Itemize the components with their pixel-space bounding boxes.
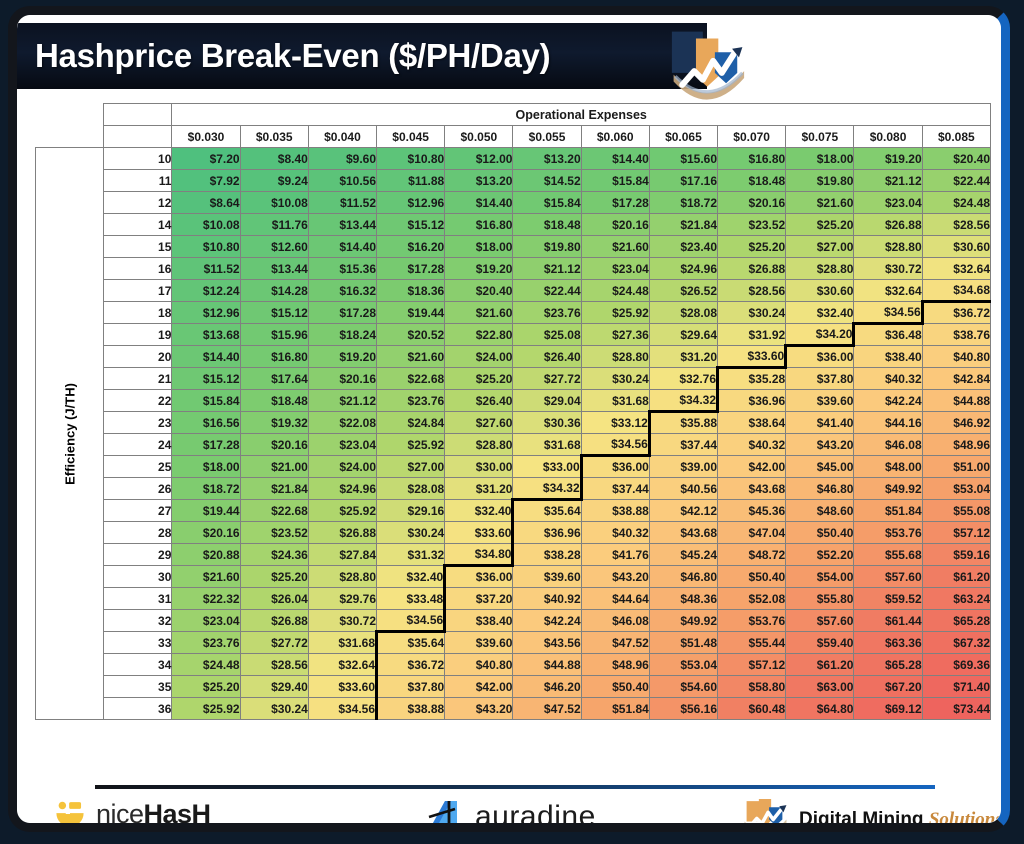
row-header-18: 18 xyxy=(104,302,172,324)
cell-28-1: $23.52 xyxy=(240,522,308,544)
row-header-12: 12 xyxy=(104,192,172,214)
cell-20-4: $24.00 xyxy=(445,346,513,368)
cell-10-11: $20.40 xyxy=(922,148,990,170)
cell-20-3: $21.60 xyxy=(377,346,445,368)
table-row: 24$17.28$20.16$23.04$25.92$28.80$31.68$3… xyxy=(36,434,991,456)
table-row: 14$10.08$11.76$13.44$15.12$16.80$18.48$2… xyxy=(36,214,991,236)
cell-36-11: $73.44 xyxy=(922,698,990,720)
cell-14-1: $11.76 xyxy=(240,214,308,236)
cell-24-10: $46.08 xyxy=(854,434,922,456)
cell-21-10: $40.32 xyxy=(854,368,922,390)
cell-11-5: $14.52 xyxy=(513,170,581,192)
cell-26-8: $43.68 xyxy=(718,478,786,500)
cell-27-1: $22.68 xyxy=(240,500,308,522)
dms-wordmark: Digital Mining Solutions xyxy=(799,809,1001,823)
cell-10-8: $16.80 xyxy=(718,148,786,170)
cell-20-0: $14.40 xyxy=(172,346,240,368)
cell-23-9: $41.40 xyxy=(786,412,854,434)
cell-33-7: $51.48 xyxy=(649,632,717,654)
cell-29-6: $41.76 xyxy=(581,544,649,566)
nicehash-pre: nice xyxy=(96,799,144,824)
cell-23-4: $27.60 xyxy=(445,412,513,434)
cell-31-8: $52.08 xyxy=(718,588,786,610)
cell-20-7: $31.20 xyxy=(649,346,717,368)
cell-33-3: $35.64 xyxy=(377,632,445,654)
cell-12-1: $10.08 xyxy=(240,192,308,214)
cell-28-6: $40.32 xyxy=(581,522,649,544)
cell-32-11: $65.28 xyxy=(922,610,990,632)
nicehash-wordmark: niceHasH xyxy=(96,799,211,824)
table-row: 29$20.88$24.36$27.84$31.32$34.80$38.28$4… xyxy=(36,544,991,566)
cell-26-2: $24.96 xyxy=(308,478,376,500)
cell-24-5: $31.68 xyxy=(513,434,581,456)
cell-23-5: $30.36 xyxy=(513,412,581,434)
cell-25-0: $18.00 xyxy=(172,456,240,478)
cell-31-1: $26.04 xyxy=(240,588,308,610)
cell-10-4: $12.00 xyxy=(445,148,513,170)
cell-12-2: $11.52 xyxy=(308,192,376,214)
cell-27-4: $32.40 xyxy=(445,500,513,522)
cell-19-6: $27.36 xyxy=(581,324,649,346)
cell-26-5: $34.32 xyxy=(513,478,581,500)
cell-26-3: $28.08 xyxy=(377,478,445,500)
cell-28-10: $53.76 xyxy=(854,522,922,544)
cell-29-10: $55.68 xyxy=(854,544,922,566)
cell-10-7: $15.60 xyxy=(649,148,717,170)
cell-36-1: $30.24 xyxy=(240,698,308,720)
row-header-28: 28 xyxy=(104,522,172,544)
cell-15-1: $12.60 xyxy=(240,236,308,258)
title-bar: Hashprice Break-Even ($/PH/Day) xyxy=(17,23,707,89)
cell-25-7: $39.00 xyxy=(649,456,717,478)
row-header-34: 34 xyxy=(104,654,172,676)
cell-24-0: $17.28 xyxy=(172,434,240,456)
cell-21-3: $22.68 xyxy=(377,368,445,390)
row-header-10: 10 xyxy=(104,148,172,170)
cell-23-0: $16.56 xyxy=(172,412,240,434)
cell-14-5: $18.48 xyxy=(513,214,581,236)
table-row: 16$11.52$13.44$15.36$17.28$19.20$21.12$2… xyxy=(36,258,991,280)
cell-33-2: $31.68 xyxy=(308,632,376,654)
cell-30-6: $43.20 xyxy=(581,566,649,588)
cell-25-4: $30.00 xyxy=(445,456,513,478)
table-row: 32$23.04$26.88$30.72$34.56$38.40$42.24$4… xyxy=(36,610,991,632)
row-header-27: 27 xyxy=(104,500,172,522)
cell-25-3: $27.00 xyxy=(377,456,445,478)
cell-17-11: $34.68 xyxy=(922,280,990,302)
cell-14-10: $26.88 xyxy=(854,214,922,236)
table-row: 25$18.00$21.00$24.00$27.00$30.00$33.00$3… xyxy=(36,456,991,478)
cell-27-8: $45.36 xyxy=(718,500,786,522)
cell-25-10: $48.00 xyxy=(854,456,922,478)
cell-22-11: $44.88 xyxy=(922,390,990,412)
cell-35-8: $58.80 xyxy=(718,676,786,698)
cell-25-1: $21.00 xyxy=(240,456,308,478)
cell-14-2: $13.44 xyxy=(308,214,376,236)
cell-35-0: $25.20 xyxy=(172,676,240,698)
cell-16-10: $30.72 xyxy=(854,258,922,280)
table-row: 31$22.32$26.04$29.76$33.48$37.20$40.92$4… xyxy=(36,588,991,610)
cell-34-3: $36.72 xyxy=(377,654,445,676)
column-header-10: $0.080 xyxy=(854,126,922,148)
row-header-11: 11 xyxy=(104,170,172,192)
cell-31-10: $59.52 xyxy=(854,588,922,610)
table-row: Efficiency (J/TH)10$7.20$8.40$9.60$10.80… xyxy=(36,148,991,170)
cell-32-10: $61.44 xyxy=(854,610,922,632)
cell-25-8: $42.00 xyxy=(718,456,786,478)
cell-20-5: $26.40 xyxy=(513,346,581,368)
cell-35-6: $50.40 xyxy=(581,676,649,698)
cell-10-2: $9.60 xyxy=(308,148,376,170)
cell-21-8: $35.28 xyxy=(718,368,786,390)
cell-34-10: $65.28 xyxy=(854,654,922,676)
cell-14-11: $28.56 xyxy=(922,214,990,236)
cell-12-9: $21.60 xyxy=(786,192,854,214)
dms-bar-chart-logo-icon xyxy=(665,23,751,109)
column-header-8: $0.070 xyxy=(718,126,786,148)
column-header-7: $0.065 xyxy=(649,126,717,148)
cell-16-1: $13.44 xyxy=(240,258,308,280)
cell-30-5: $39.60 xyxy=(513,566,581,588)
cell-21-6: $30.24 xyxy=(581,368,649,390)
cell-31-0: $22.32 xyxy=(172,588,240,610)
cell-16-7: $24.96 xyxy=(649,258,717,280)
cell-18-0: $12.96 xyxy=(172,302,240,324)
logo-nicehash[interactable]: niceHasH xyxy=(53,797,211,823)
cell-34-6: $48.96 xyxy=(581,654,649,676)
cell-24-11: $48.96 xyxy=(922,434,990,456)
row-header-36: 36 xyxy=(104,698,172,720)
logo-digital-mining-solutions[interactable]: Digital Mining Solutions xyxy=(739,797,1001,823)
cell-17-10: $32.64 xyxy=(854,280,922,302)
cell-15-7: $23.40 xyxy=(649,236,717,258)
cell-24-2: $23.04 xyxy=(308,434,376,456)
table-row: 34$24.48$28.56$32.64$36.72$40.80$44.88$4… xyxy=(36,654,991,676)
cell-33-1: $27.72 xyxy=(240,632,308,654)
table-row: 15$10.80$12.60$14.40$16.20$18.00$19.80$2… xyxy=(36,236,991,258)
cell-19-2: $18.24 xyxy=(308,324,376,346)
cell-31-7: $48.36 xyxy=(649,588,717,610)
cell-21-4: $25.20 xyxy=(445,368,513,390)
dms-accent: Solutions xyxy=(929,809,1001,823)
cell-15-9: $27.00 xyxy=(786,236,854,258)
cell-18-5: $23.76 xyxy=(513,302,581,324)
cell-25-9: $45.00 xyxy=(786,456,854,478)
cell-22-10: $42.24 xyxy=(854,390,922,412)
cell-17-6: $24.48 xyxy=(581,280,649,302)
cell-36-7: $56.16 xyxy=(649,698,717,720)
cell-32-3: $34.56 xyxy=(377,610,445,632)
cell-22-7: $34.32 xyxy=(649,390,717,412)
cell-29-4: $34.80 xyxy=(445,544,513,566)
cell-23-1: $19.32 xyxy=(240,412,308,434)
cell-36-10: $69.12 xyxy=(854,698,922,720)
row-header-29: 29 xyxy=(104,544,172,566)
cell-10-5: $13.20 xyxy=(513,148,581,170)
cell-27-10: $51.84 xyxy=(854,500,922,522)
row-header-16: 16 xyxy=(104,258,172,280)
cell-19-3: $20.52 xyxy=(377,324,445,346)
cell-11-3: $11.88 xyxy=(377,170,445,192)
cell-15-4: $18.00 xyxy=(445,236,513,258)
row-header-31: 31 xyxy=(104,588,172,610)
cell-36-4: $43.20 xyxy=(445,698,513,720)
table-row: 30$21.60$25.20$28.80$32.40$36.00$39.60$4… xyxy=(36,566,991,588)
dms-bar-chart-logo-icon-footer xyxy=(739,797,791,823)
cell-29-5: $38.28 xyxy=(513,544,581,566)
cell-34-11: $69.36 xyxy=(922,654,990,676)
cell-15-0: $10.80 xyxy=(172,236,240,258)
cell-31-6: $44.64 xyxy=(581,588,649,610)
cell-30-0: $21.60 xyxy=(172,566,240,588)
cell-26-10: $49.92 xyxy=(854,478,922,500)
cell-33-5: $43.56 xyxy=(513,632,581,654)
table-row: 22$15.84$18.48$21.12$23.76$26.40$29.04$3… xyxy=(36,390,991,412)
nicehash-post: HasH xyxy=(144,799,211,824)
cell-36-6: $51.84 xyxy=(581,698,649,720)
cell-20-9: $36.00 xyxy=(786,346,854,368)
cell-19-9: $34.20 xyxy=(786,324,854,346)
cell-14-4: $16.80 xyxy=(445,214,513,236)
table-row: 23$16.56$19.32$22.08$24.84$27.60$30.36$3… xyxy=(36,412,991,434)
cell-12-11: $24.48 xyxy=(922,192,990,214)
cell-17-8: $28.56 xyxy=(718,280,786,302)
cell-18-9: $32.40 xyxy=(786,302,854,324)
cell-15-2: $14.40 xyxy=(308,236,376,258)
cell-18-4: $21.60 xyxy=(445,302,513,324)
cell-10-0: $7.20 xyxy=(172,148,240,170)
cell-16-0: $11.52 xyxy=(172,258,240,280)
page-title: Hashprice Break-Even ($/PH/Day) xyxy=(35,37,550,75)
cell-36-2: $34.56 xyxy=(308,698,376,720)
table-row: 33$23.76$27.72$31.68$35.64$39.60$43.56$4… xyxy=(36,632,991,654)
cell-33-4: $39.60 xyxy=(445,632,513,654)
cell-34-2: $32.64 xyxy=(308,654,376,676)
cell-29-0: $20.88 xyxy=(172,544,240,566)
corner-cell xyxy=(104,104,172,126)
cell-22-9: $39.60 xyxy=(786,390,854,412)
cell-24-8: $40.32 xyxy=(718,434,786,456)
cell-22-4: $26.40 xyxy=(445,390,513,412)
cell-33-11: $67.32 xyxy=(922,632,990,654)
column-header-3: $0.045 xyxy=(377,126,445,148)
table-row: 12$8.64$10.08$11.52$12.96$14.40$15.84$17… xyxy=(36,192,991,214)
table-row: 20$14.40$16.80$19.20$21.60$24.00$26.40$2… xyxy=(36,346,991,368)
cell-23-7: $35.88 xyxy=(649,412,717,434)
cell-25-5: $33.00 xyxy=(513,456,581,478)
cell-19-5: $25.08 xyxy=(513,324,581,346)
cell-26-6: $37.44 xyxy=(581,478,649,500)
cell-22-8: $36.96 xyxy=(718,390,786,412)
cell-15-10: $28.80 xyxy=(854,236,922,258)
cell-17-0: $12.24 xyxy=(172,280,240,302)
cell-17-3: $18.36 xyxy=(377,280,445,302)
cell-30-8: $50.40 xyxy=(718,566,786,588)
cell-25-2: $24.00 xyxy=(308,456,376,478)
cell-20-11: $40.80 xyxy=(922,346,990,368)
cell-31-5: $40.92 xyxy=(513,588,581,610)
cell-27-2: $25.92 xyxy=(308,500,376,522)
table-row: 35$25.20$29.40$33.60$37.80$42.00$46.20$5… xyxy=(36,676,991,698)
cell-12-8: $20.16 xyxy=(718,192,786,214)
cell-31-2: $29.76 xyxy=(308,588,376,610)
cell-10-3: $10.80 xyxy=(377,148,445,170)
cell-35-4: $42.00 xyxy=(445,676,513,698)
cell-26-0: $18.72 xyxy=(172,478,240,500)
cell-28-5: $36.96 xyxy=(513,522,581,544)
cell-12-7: $18.72 xyxy=(649,192,717,214)
cell-33-6: $47.52 xyxy=(581,632,649,654)
cell-29-9: $52.20 xyxy=(786,544,854,566)
cell-17-1: $14.28 xyxy=(240,280,308,302)
poster-inner: Hashprice Break-Even ($/PH/Day) Operatio… xyxy=(17,15,1001,823)
cell-22-1: $18.48 xyxy=(240,390,308,412)
cell-35-5: $46.20 xyxy=(513,676,581,698)
heatmap-table-wrap: Operational Expenses$0.030$0.035$0.040$0… xyxy=(35,103,995,775)
auradine-wordmark: auradine xyxy=(475,800,596,823)
row-header-26: 26 xyxy=(104,478,172,500)
cell-17-2: $16.32 xyxy=(308,280,376,302)
cell-11-9: $19.80 xyxy=(786,170,854,192)
cell-27-3: $29.16 xyxy=(377,500,445,522)
cell-17-9: $30.60 xyxy=(786,280,854,302)
cell-34-9: $61.20 xyxy=(786,654,854,676)
cell-30-4: $36.00 xyxy=(445,566,513,588)
cell-20-2: $19.20 xyxy=(308,346,376,368)
cell-21-5: $27.72 xyxy=(513,368,581,390)
cell-34-0: $24.48 xyxy=(172,654,240,676)
cell-19-11: $38.76 xyxy=(922,324,990,346)
cell-28-3: $30.24 xyxy=(377,522,445,544)
cell-18-7: $28.08 xyxy=(649,302,717,324)
cell-15-5: $19.80 xyxy=(513,236,581,258)
cell-29-2: $27.84 xyxy=(308,544,376,566)
cell-27-0: $19.44 xyxy=(172,500,240,522)
cell-23-11: $46.92 xyxy=(922,412,990,434)
table-row: 26$18.72$21.84$24.96$28.08$31.20$34.32$3… xyxy=(36,478,991,500)
cell-36-5: $47.52 xyxy=(513,698,581,720)
cell-12-5: $15.84 xyxy=(513,192,581,214)
corner-cell xyxy=(104,126,172,148)
cell-28-7: $43.68 xyxy=(649,522,717,544)
cell-34-7: $53.04 xyxy=(649,654,717,676)
cell-24-6: $34.56 xyxy=(581,434,649,456)
cell-29-8: $48.72 xyxy=(718,544,786,566)
cell-18-3: $19.44 xyxy=(377,302,445,324)
cell-18-11: $36.72 xyxy=(922,302,990,324)
cell-17-5: $22.44 xyxy=(513,280,581,302)
cell-22-5: $29.04 xyxy=(513,390,581,412)
cell-21-2: $20.16 xyxy=(308,368,376,390)
cell-26-1: $21.84 xyxy=(240,478,308,500)
cell-36-3: $38.88 xyxy=(377,698,445,720)
cell-29-3: $31.32 xyxy=(377,544,445,566)
cell-27-6: $38.88 xyxy=(581,500,649,522)
cell-33-0: $23.76 xyxy=(172,632,240,654)
cell-19-10: $36.48 xyxy=(854,324,922,346)
cell-29-1: $24.36 xyxy=(240,544,308,566)
cell-28-9: $50.40 xyxy=(786,522,854,544)
cell-30-3: $32.40 xyxy=(377,566,445,588)
cell-27-5: $35.64 xyxy=(513,500,581,522)
cell-11-2: $10.56 xyxy=(308,170,376,192)
column-header-1: $0.035 xyxy=(240,126,308,148)
cell-16-11: $32.64 xyxy=(922,258,990,280)
cell-28-0: $20.16 xyxy=(172,522,240,544)
cell-11-7: $17.16 xyxy=(649,170,717,192)
table-row: 19$13.68$15.96$18.24$20.52$22.80$25.08$2… xyxy=(36,324,991,346)
column-header-4: $0.050 xyxy=(445,126,513,148)
cell-15-6: $21.60 xyxy=(581,236,649,258)
cell-32-7: $49.92 xyxy=(649,610,717,632)
cell-16-6: $23.04 xyxy=(581,258,649,280)
cell-34-1: $28.56 xyxy=(240,654,308,676)
cell-28-8: $47.04 xyxy=(718,522,786,544)
cell-14-8: $23.52 xyxy=(718,214,786,236)
cell-24-7: $37.44 xyxy=(649,434,717,456)
cell-10-6: $14.40 xyxy=(581,148,649,170)
cell-32-8: $53.76 xyxy=(718,610,786,632)
cell-12-3: $12.96 xyxy=(377,192,445,214)
cell-22-3: $23.76 xyxy=(377,390,445,412)
row-header-24: 24 xyxy=(104,434,172,456)
cell-30-1: $25.20 xyxy=(240,566,308,588)
cell-28-11: $57.12 xyxy=(922,522,990,544)
cell-24-3: $25.92 xyxy=(377,434,445,456)
cell-23-8: $38.64 xyxy=(718,412,786,434)
cell-11-0: $7.92 xyxy=(172,170,240,192)
cell-16-5: $21.12 xyxy=(513,258,581,280)
cell-15-3: $16.20 xyxy=(377,236,445,258)
row-header-17: 17 xyxy=(104,280,172,302)
logo-auradine[interactable]: auradine xyxy=(427,797,596,823)
row-header-25: 25 xyxy=(104,456,172,478)
cell-23-10: $44.16 xyxy=(854,412,922,434)
cell-15-8: $25.20 xyxy=(718,236,786,258)
cell-17-4: $20.40 xyxy=(445,280,513,302)
row-header-15: 15 xyxy=(104,236,172,258)
cell-22-6: $31.68 xyxy=(581,390,649,412)
row-header-30: 30 xyxy=(104,566,172,588)
cell-16-2: $15.36 xyxy=(308,258,376,280)
cell-36-0: $25.92 xyxy=(172,698,240,720)
cell-20-10: $38.40 xyxy=(854,346,922,368)
cell-35-1: $29.40 xyxy=(240,676,308,698)
cell-32-0: $23.04 xyxy=(172,610,240,632)
cell-18-6: $25.92 xyxy=(581,302,649,324)
cell-34-4: $40.80 xyxy=(445,654,513,676)
cell-10-1: $8.40 xyxy=(240,148,308,170)
cell-16-9: $28.80 xyxy=(786,258,854,280)
cell-27-9: $48.60 xyxy=(786,500,854,522)
column-header-11: $0.085 xyxy=(922,126,990,148)
footer-divider xyxy=(95,785,935,789)
cell-24-9: $43.20 xyxy=(786,434,854,456)
cell-16-4: $19.20 xyxy=(445,258,513,280)
cell-14-3: $15.12 xyxy=(377,214,445,236)
cell-28-2: $26.88 xyxy=(308,522,376,544)
cell-21-1: $17.64 xyxy=(240,368,308,390)
table-row: 27$19.44$22.68$25.92$29.16$32.40$35.64$3… xyxy=(36,500,991,522)
table-row: 17$12.24$14.28$16.32$18.36$20.40$22.44$2… xyxy=(36,280,991,302)
cell-30-10: $57.60 xyxy=(854,566,922,588)
cell-35-10: $67.20 xyxy=(854,676,922,698)
cell-36-8: $60.48 xyxy=(718,698,786,720)
column-header-9: $0.075 xyxy=(786,126,854,148)
cell-32-1: $26.88 xyxy=(240,610,308,632)
row-axis-label: Efficiency (J/TH) xyxy=(36,148,104,720)
cell-23-2: $22.08 xyxy=(308,412,376,434)
